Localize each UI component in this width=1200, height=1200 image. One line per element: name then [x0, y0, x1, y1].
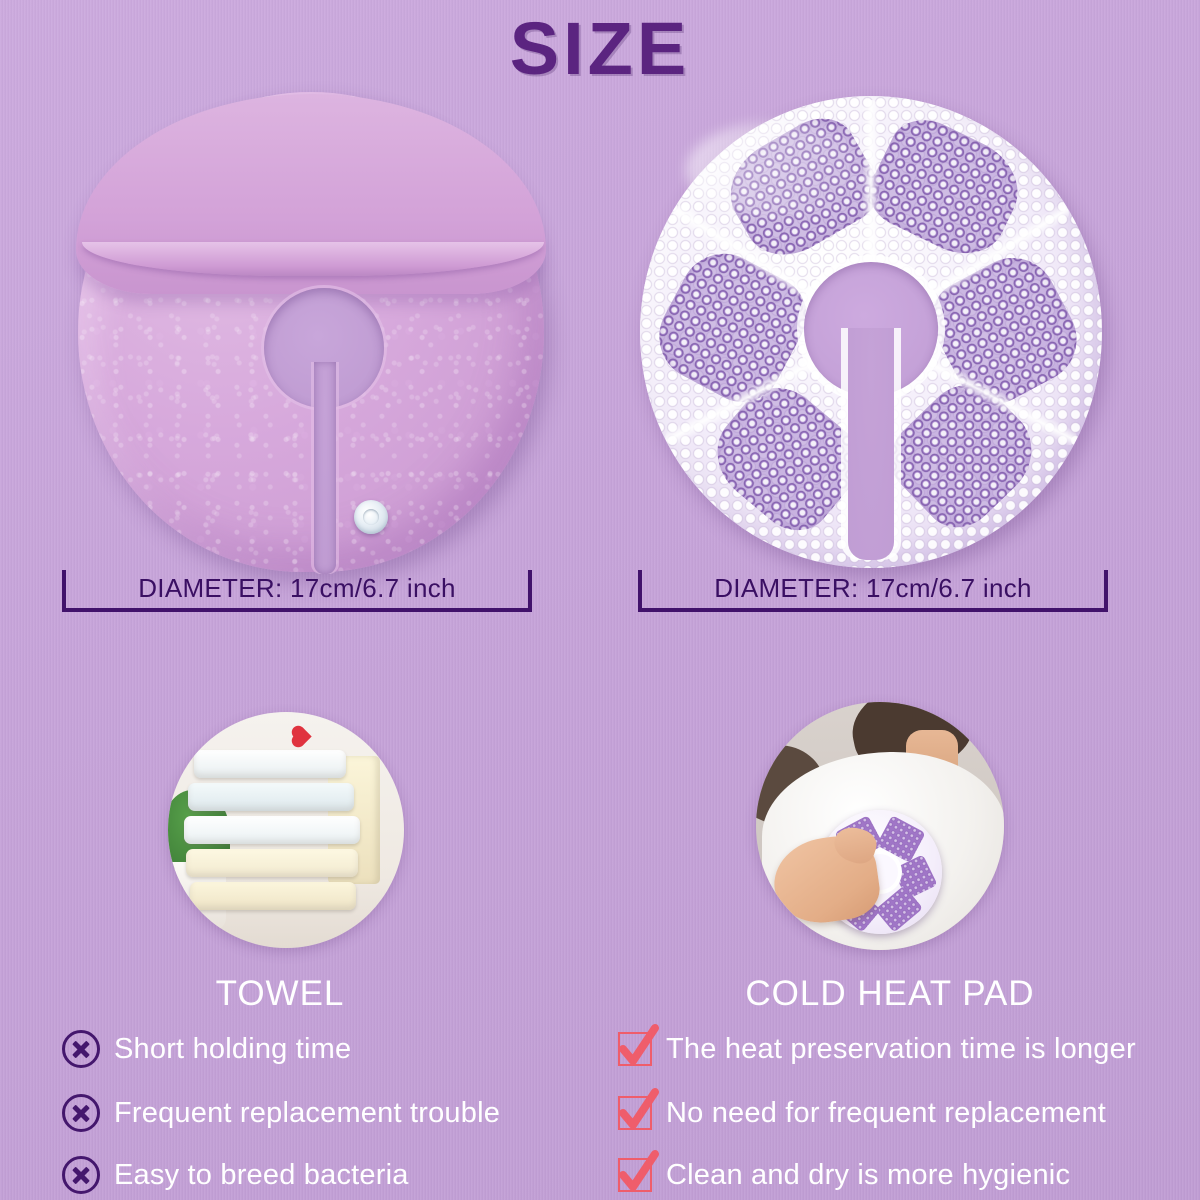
- pro-list-item: Clean and dry is more hygienic: [618, 1152, 1070, 1198]
- towel-item: [194, 750, 346, 778]
- bracket-line: [62, 608, 532, 612]
- con-item-label: Frequent replacement trouble: [114, 1097, 500, 1130]
- product-photo-velvet-pad: [60, 78, 560, 598]
- heart-icon: [293, 727, 311, 745]
- dimension-label: DIAMETER: 17cm/6.7 inch: [62, 573, 532, 604]
- towel-item: [184, 816, 360, 844]
- con-item-label: Short holding time: [114, 1033, 351, 1066]
- check-box-icon: [618, 1158, 652, 1192]
- comparison-title-cold-heat-pad: COLD HEAT PAD: [610, 974, 1170, 1014]
- comparison-title-towel: TOWEL: [0, 974, 560, 1014]
- dimension-label: DIAMETER: 17cm/6.7 inch: [638, 573, 1108, 604]
- check-box-icon: [618, 1096, 652, 1130]
- pro-list-item: No need for frequent replacement: [618, 1090, 1106, 1136]
- snap-button-icon: [354, 500, 388, 534]
- towel-stack: [184, 750, 362, 915]
- pro-list-item: The heat preservation time is longer: [618, 1026, 1136, 1072]
- bracket-tick-left: [638, 570, 642, 612]
- velvet-pad-slit: [314, 362, 336, 574]
- towel-item: [190, 882, 356, 910]
- product-infographic: SIZE: [0, 0, 1200, 1200]
- circle-x-icon: [62, 1156, 100, 1194]
- circle-x-icon: [62, 1030, 100, 1068]
- person-scene: [756, 702, 1004, 950]
- stacked-towels-photo: [168, 712, 404, 948]
- towel-item: [186, 849, 358, 877]
- gel-pad-illustration: [640, 96, 1102, 568]
- con-list-item: Frequent replacement trouble: [62, 1090, 500, 1136]
- bracket-tick-left: [62, 570, 66, 612]
- towels-scene: [168, 712, 404, 948]
- product-photo-gel-pad: [620, 78, 1120, 598]
- circle-x-icon: [62, 1094, 100, 1132]
- pro-item-label: No need for frequent replacement: [666, 1097, 1106, 1130]
- bracket-tick-right: [1104, 570, 1108, 612]
- bracket-line: [638, 608, 1108, 612]
- gel-pad-slit: [848, 328, 894, 560]
- towel-item: [188, 783, 354, 811]
- page-title: SIZE: [0, 12, 1200, 86]
- con-list-item: Short holding time: [62, 1026, 351, 1072]
- bracket-tick-right: [528, 570, 532, 612]
- pro-item-label: The heat preservation time is longer: [666, 1033, 1136, 1066]
- velvet-pad-illustration: [78, 92, 544, 572]
- pro-item-label: Clean and dry is more hygienic: [666, 1159, 1070, 1192]
- con-item-label: Easy to breed bacteria: [114, 1159, 409, 1192]
- con-list-item: Easy to breed bacteria: [62, 1152, 409, 1198]
- check-box-icon: [618, 1032, 652, 1066]
- woman-holding-gel-pad-photo: [756, 702, 1004, 950]
